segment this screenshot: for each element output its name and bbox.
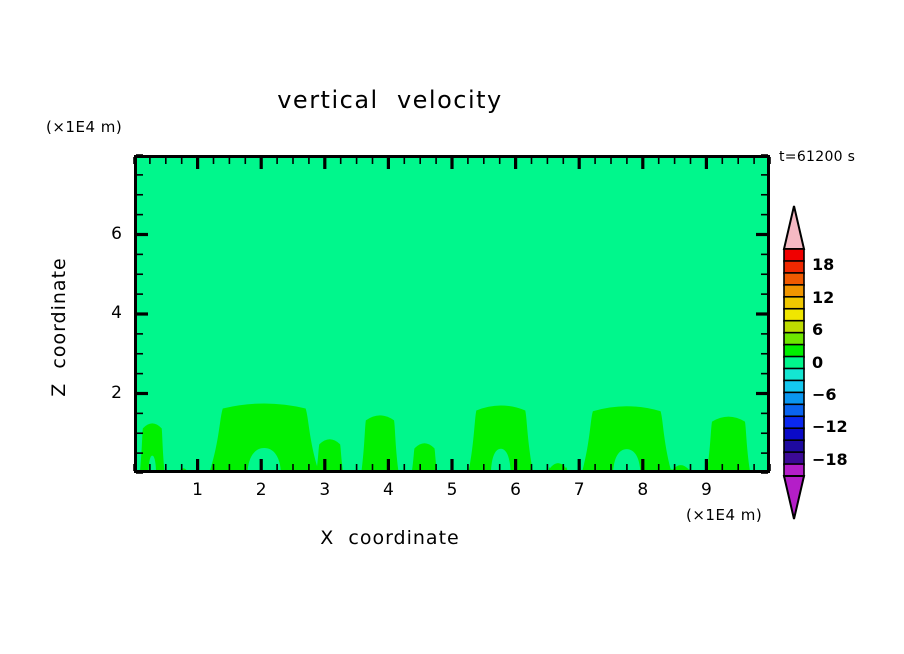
- colorbar-band: [784, 297, 804, 310]
- colorbar-band: [784, 404, 804, 417]
- colorbar-band: [784, 249, 804, 262]
- y-axis-title: Z coordinate: [48, 247, 70, 407]
- colorbar-band: [784, 380, 804, 393]
- x-tick-label: 2: [246, 480, 276, 500]
- colorbar-tick-label: 12: [812, 288, 834, 307]
- colorbar-band: [784, 368, 804, 381]
- x-tick-label: 8: [628, 480, 658, 500]
- contour-plume: [316, 439, 344, 473]
- colorbar-band: [784, 345, 804, 358]
- y-tick-label: 2: [92, 383, 122, 403]
- colorbar-tick-label: 6: [812, 320, 823, 339]
- colorbar-band: [784, 452, 804, 465]
- x-tick-label: 3: [310, 480, 340, 500]
- colorbar-band: [784, 273, 804, 286]
- colorbar-band: [784, 416, 804, 429]
- colorbar-tick-label: 0: [812, 353, 823, 372]
- x-tick-label: 4: [373, 480, 403, 500]
- colorbar-band: [784, 428, 804, 441]
- colorbar: [782, 205, 806, 520]
- contour-field: [137, 158, 770, 473]
- contour-plume: [361, 415, 399, 473]
- colorbar-tick-label: −6: [812, 385, 837, 404]
- y-tick-label: 4: [92, 303, 122, 323]
- colorbar-band: [784, 333, 804, 346]
- surface-layer: [137, 472, 770, 473]
- colorbar-tick-label: −12: [812, 417, 848, 436]
- y-axis-unit-label: (×1E4 m): [46, 118, 122, 136]
- colorbar-band: [784, 440, 804, 453]
- colorbar-tick-label: −18: [812, 450, 848, 469]
- colorbar-band: [784, 309, 804, 322]
- x-axis-title: X coordinate: [0, 527, 780, 549]
- colorbar-band: [784, 357, 804, 370]
- page-title: vertical velocity: [0, 86, 780, 114]
- colorbar-under-arrow: [784, 476, 804, 519]
- x-tick-label: 1: [183, 480, 213, 500]
- contour-plot-area: [134, 155, 770, 473]
- colorbar-band: [784, 261, 804, 274]
- x-tick-label: 7: [564, 480, 594, 500]
- time-annotation: t=61200 s: [779, 149, 855, 165]
- x-tick-label: 9: [691, 480, 721, 500]
- colorbar-band: [784, 392, 804, 405]
- contour-plume: [706, 417, 751, 473]
- colorbar-band: [784, 285, 804, 298]
- colorbar-band: [784, 464, 804, 477]
- colorbar-band: [784, 321, 804, 334]
- colorbar-over-arrow: [784, 206, 804, 249]
- x-tick-label: 6: [501, 480, 531, 500]
- colorbar-tick-label: 18: [812, 255, 834, 274]
- x-tick-label: 5: [437, 480, 467, 500]
- x-axis-unit-label: (×1E4 m): [686, 506, 762, 524]
- y-tick-label: 6: [92, 224, 122, 244]
